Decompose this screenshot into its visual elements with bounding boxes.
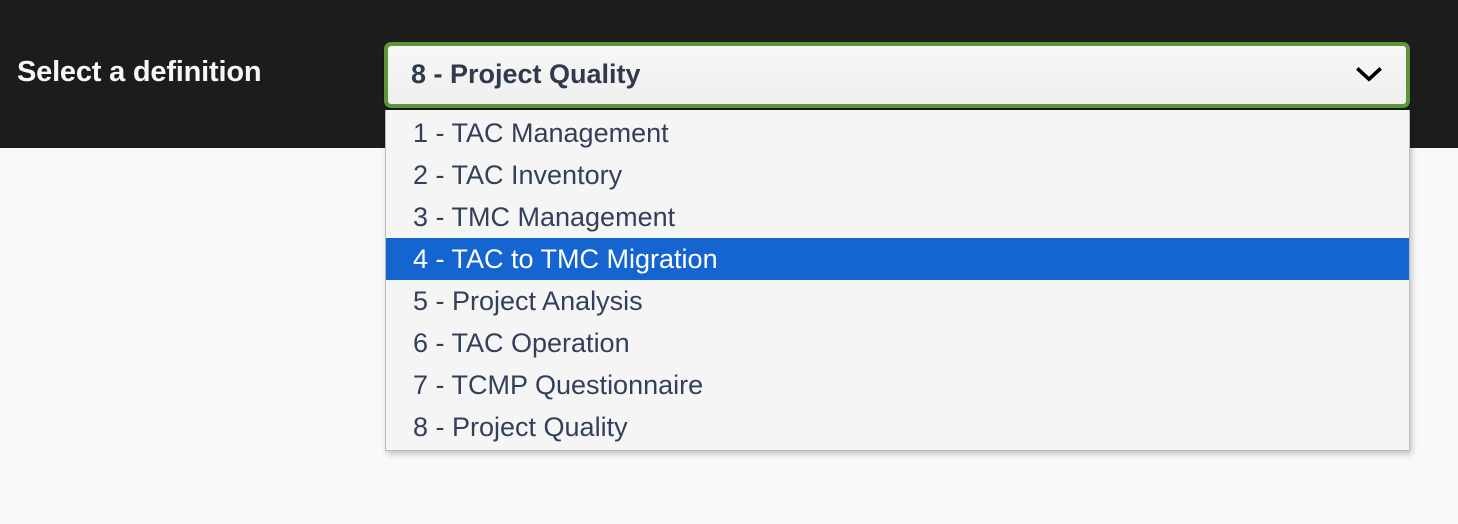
chevron-down-icon[interactable] — [1356, 62, 1382, 88]
select-option[interactable]: 5 - Project Analysis — [386, 280, 1409, 322]
select-option[interactable]: 6 - TAC Operation — [386, 322, 1409, 364]
select-option-highlighted[interactable]: 4 - TAC to TMC Migration — [386, 238, 1409, 280]
select-option[interactable]: 7 - TCMP Questionnaire — [386, 364, 1409, 406]
select-option[interactable]: 8 - Project Quality — [386, 406, 1409, 448]
select-option[interactable]: 1 - TAC Management — [386, 112, 1409, 154]
definition-select-value: 8 - Project Quality — [411, 59, 641, 90]
definition-select-dropdown[interactable]: 1 - TAC Management 2 - TAC Inventory 3 -… — [385, 110, 1410, 451]
select-option[interactable]: 2 - TAC Inventory — [386, 154, 1409, 196]
select-definition-label: Select a definition — [17, 56, 261, 89]
select-option[interactable]: 3 - TMC Management — [386, 196, 1409, 238]
definition-select-box[interactable]: 8 - Project Quality — [384, 42, 1410, 108]
